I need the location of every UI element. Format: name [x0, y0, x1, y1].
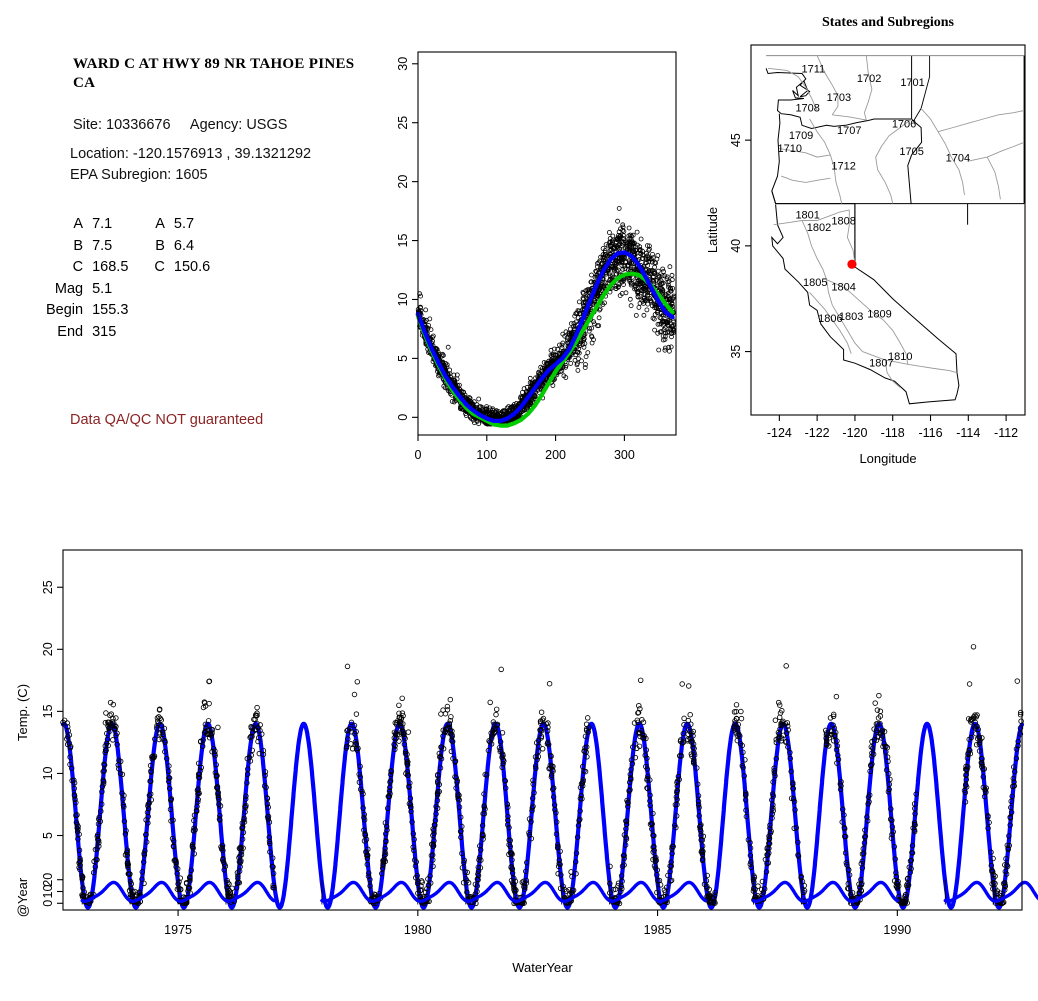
- parameter-value-2: 5.7: [174, 216, 236, 238]
- site-marker: [847, 260, 856, 269]
- parameter-value-2: 150.6: [174, 259, 236, 281]
- parameter-value: 5.1: [92, 281, 154, 303]
- svg-text:-124: -124: [767, 426, 792, 440]
- svg-text:-118: -118: [881, 426, 905, 440]
- subregion-label-1805: 1805: [803, 277, 827, 289]
- subregion-label-1808: 1808: [831, 216, 855, 228]
- parameter-table: A7.1A5.7B7.5B6.4C168.5C150.6Mag5.1Begin1…: [46, 216, 236, 345]
- parameter-label: C: [46, 259, 92, 281]
- parameter-value-2: [174, 281, 236, 303]
- parameter-label-2: C: [154, 259, 173, 281]
- site-agency-line: Site: 10336676 Agency: USGS: [73, 117, 287, 133]
- svg-text:25: 25: [41, 580, 55, 594]
- subregion-label-1706: 1706: [892, 118, 916, 130]
- site-title: WARD C AT HWY 89 NR TAHOE PINES CA: [73, 55, 373, 93]
- temperature-timeseries-plot: 510152025010201975198019851990WaterYearT…: [0, 505, 1038, 1001]
- parameter-label-2: [154, 302, 173, 324]
- svg-text:-112: -112: [994, 426, 1018, 440]
- svg-text:5: 5: [41, 832, 55, 839]
- svg-text:20: 20: [41, 642, 55, 656]
- subregion-labels: 1701170217031704170517061707170817091710…: [777, 63, 970, 369]
- qa-warning: Data QA/QC NOT guaranteed: [70, 412, 263, 428]
- subregion-label-1701: 1701: [900, 77, 924, 89]
- timeseries-ylabel: Temp. (C): [15, 684, 30, 741]
- svg-text:30: 30: [396, 57, 410, 71]
- svg-text:1975: 1975: [164, 923, 192, 937]
- parameter-value: 168.5: [92, 259, 154, 281]
- parameter-label-2: B: [154, 238, 173, 260]
- parameter-value: 155.3: [92, 302, 154, 324]
- svg-text:40: 40: [729, 239, 743, 253]
- svg-text:5: 5: [396, 355, 410, 362]
- map-ylabel: Latitude: [705, 207, 720, 253]
- parameter-row: B7.5B6.4: [46, 238, 236, 260]
- seasonal-scatter-plot: 0510152025300100200300: [380, 30, 710, 500]
- states-subregions-map-panel: States and Subregions1701170217031704170…: [715, 0, 1038, 500]
- parameter-label-2: A: [154, 216, 173, 238]
- seasonal-scatter-panel: 0510152025300100200300: [380, 30, 710, 500]
- subregion-label-1710: 1710: [777, 143, 801, 155]
- parameter-row: C168.5C150.6: [46, 259, 236, 281]
- map-axes: 354045-124-122-120-118-116-114-112: [729, 133, 1018, 440]
- subregion-label-1705: 1705: [899, 146, 923, 158]
- parameter-label-2: [154, 324, 173, 346]
- timeseries-xlabel: WaterYear: [512, 960, 573, 975]
- svg-text:1985: 1985: [644, 923, 672, 937]
- subregion-label-1806: 1806: [818, 313, 842, 325]
- svg-text:15: 15: [396, 234, 410, 248]
- parameter-label: B: [46, 238, 92, 260]
- parameter-value: 315: [92, 324, 154, 346]
- svg-text:10: 10: [41, 766, 55, 780]
- svg-text:-122: -122: [805, 426, 830, 440]
- parameter-value-2: [174, 324, 236, 346]
- parameter-row: A7.1A5.7: [46, 216, 236, 238]
- subregion-label-1702: 1702: [857, 73, 881, 85]
- subregion-label-1802: 1802: [807, 222, 831, 234]
- svg-text:10: 10: [396, 292, 410, 306]
- subregion-label-1804: 1804: [831, 281, 855, 293]
- site-info-panel: WARD C AT HWY 89 NR TAHOE PINES CA Site:…: [0, 0, 390, 500]
- map-title: States and Subregions: [822, 15, 955, 30]
- subregion-label-1810: 1810: [888, 351, 912, 363]
- svg-text:45: 45: [729, 133, 743, 147]
- svg-text:300: 300: [614, 448, 635, 462]
- location-line: Location: -120.1576913 , 39.1321292: [70, 146, 311, 162]
- parameter-label: End: [46, 324, 92, 346]
- parameter-label-2: [154, 281, 173, 303]
- parameter-label: Begin: [46, 302, 92, 324]
- svg-text:0: 0: [41, 900, 55, 907]
- parameter-row: Begin155.3: [46, 302, 236, 324]
- subregion-label-1708: 1708: [795, 103, 819, 115]
- parameter-row: Mag5.1: [46, 281, 236, 303]
- timeseries-points: [61, 645, 1024, 906]
- map-xlabel: Longitude: [859, 451, 916, 466]
- svg-text:-120: -120: [842, 426, 867, 440]
- svg-text:20: 20: [41, 873, 55, 887]
- parameter-row: End315: [46, 324, 236, 346]
- svg-text:-116: -116: [918, 426, 942, 440]
- svg-text:1990: 1990: [883, 923, 911, 937]
- parameter-value: 7.1: [92, 216, 154, 238]
- subregion-label-1711: 1711: [802, 63, 826, 75]
- subregion-label-1707: 1707: [837, 125, 861, 137]
- svg-text:100: 100: [476, 448, 497, 462]
- svg-text:35: 35: [729, 345, 743, 359]
- svg-text:20: 20: [396, 175, 410, 189]
- subregion-label-1703: 1703: [827, 92, 851, 104]
- svg-text:0: 0: [396, 414, 410, 421]
- subregion-label-1809: 1809: [867, 309, 891, 321]
- epa-subregion-line: EPA Subregion: 1605: [70, 167, 208, 183]
- subregion-label-1712: 1712: [831, 161, 855, 173]
- svg-text:1980: 1980: [404, 923, 432, 937]
- parameter-label: Mag: [46, 281, 92, 303]
- svg-text:-114: -114: [956, 426, 980, 440]
- temperature-timeseries-panel: 510152025010201975198019851990WaterYearT…: [0, 505, 1038, 1001]
- parameter-value-2: 6.4: [174, 238, 236, 260]
- subregion-label-1709: 1709: [789, 130, 813, 142]
- parameter-value: 7.5: [92, 238, 154, 260]
- svg-text:0: 0: [415, 448, 422, 462]
- at-year-ylabel: @Year: [15, 877, 30, 917]
- svg-text:15: 15: [41, 704, 55, 718]
- svg-text:25: 25: [396, 116, 410, 130]
- subregion-label-1801: 1801: [795, 209, 819, 221]
- svg-text:200: 200: [545, 448, 566, 462]
- states-subregions-map: States and Subregions1701170217031704170…: [715, 0, 1038, 500]
- parameter-label: A: [46, 216, 92, 238]
- parameter-value-2: [174, 302, 236, 324]
- subregion-label-1704: 1704: [946, 152, 970, 164]
